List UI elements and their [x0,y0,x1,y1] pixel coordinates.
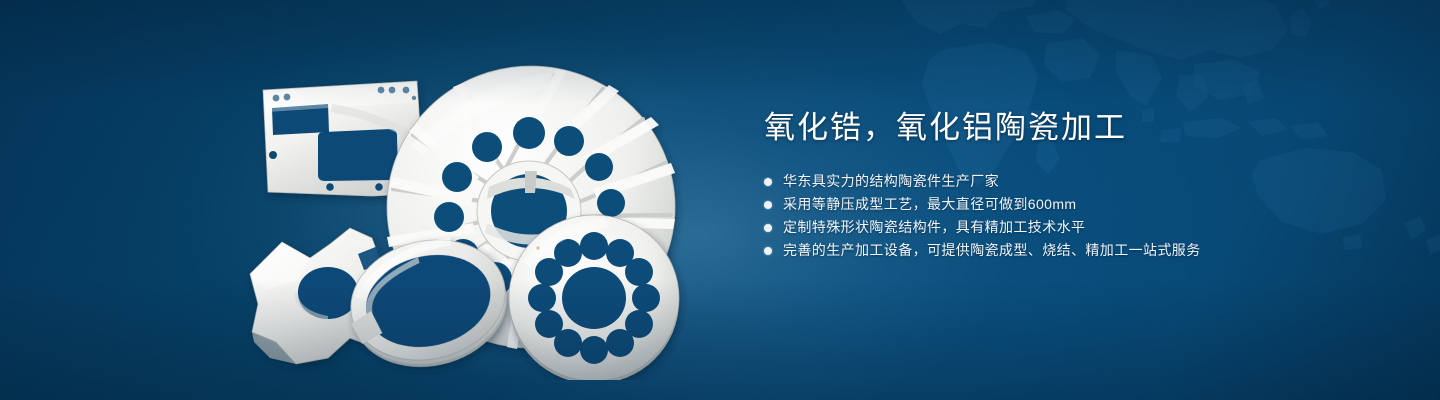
list-item: 完善的生产加工设备，可提供陶瓷成型、烧结、精加工一站式服务 [764,239,1384,262]
feature-text: 完善的生产加工设备，可提供陶瓷成型、烧结、精加工一站式服务 [783,239,1201,262]
bullet-dot-icon [764,178,772,186]
list-item: 采用等静压成型工艺，最大直径可做到600mm [764,193,1384,216]
promo-banner: 氧化锆，氧化铝陶瓷加工 华东具实力的结构陶瓷件生产厂家 采用等静压成型工艺，最大… [0,0,1440,400]
bullet-dot-icon [764,224,772,232]
feature-text: 华东具实力的结构陶瓷件生产厂家 [783,170,999,193]
bullet-dot-icon [764,247,772,255]
feature-text: 定制特殊形状陶瓷结构件，具有精加工技术水平 [783,216,1085,239]
feature-text: 采用等静压成型工艺，最大直径可做到600mm [783,193,1076,216]
banner-headline: 氧化锆，氧化铝陶瓷加工 [764,108,1384,148]
list-item: 定制特殊形状陶瓷结构件，具有精加工技术水平 [764,216,1384,239]
bullet-dot-icon [764,201,772,209]
list-item: 华东具实力的结构陶瓷件生产厂家 [764,170,1384,193]
feature-list: 华东具实力的结构陶瓷件生产厂家 采用等静压成型工艺，最大直径可做到600mm 定… [764,170,1384,262]
banner-copy: 氧化锆，氧化铝陶瓷加工 华东具实力的结构陶瓷件生产厂家 采用等静压成型工艺，最大… [764,108,1384,262]
